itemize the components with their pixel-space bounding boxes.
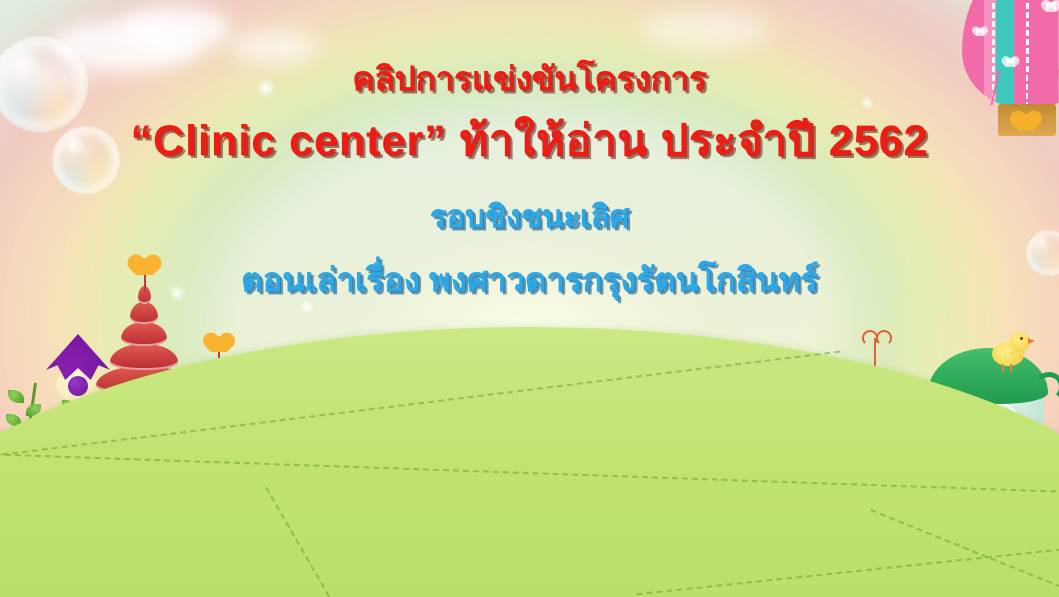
bird-beak-icon — [1028, 338, 1035, 344]
title-line-2: “Clinic center” ท้าให้อ่าน ประจำปี 2562 — [0, 114, 1059, 169]
title-text-block: คลิปการแข่งขันโครงการ “Clinic center” ท้… — [0, 58, 1059, 301]
bird-head — [1010, 332, 1030, 352]
roof-segment-3 — [110, 344, 178, 370]
pagoda-curl-right-icon — [876, 330, 892, 346]
bird-eye — [1020, 337, 1023, 340]
title-line-3: รอบชิงชนะเลิศ — [0, 197, 1059, 237]
roof-segment-2 — [121, 322, 167, 346]
hill-dash-3 — [265, 487, 634, 597]
tower-short-heart-icon — [211, 336, 227, 352]
hill-dash-5 — [636, 533, 1059, 595]
roof-segment-1 — [130, 302, 158, 324]
title-line-1: คลิปการแข่งขันโครงการ — [0, 58, 1059, 100]
sparkle-5 — [300, 300, 314, 314]
bird-leg-2 — [1010, 364, 1012, 372]
title-line-4: ตอนเล่าเรื่อง พงศาวดารกรุงรัตนโกสินทร์ — [0, 259, 1059, 301]
bird-leg-1 — [1002, 364, 1004, 372]
balloon-heart-5 — [976, 28, 984, 36]
cloud-2 — [120, 6, 230, 52]
cloud-5 — [640, 10, 770, 50]
roof-curl-right-icon — [1034, 372, 1059, 402]
slide-canvas: คลิปการแข่งขันโครงการ “Clinic center” ท้… — [0, 0, 1059, 597]
balloon-heart-2 — [1046, 2, 1056, 12]
hill-dash-2 — [0, 451, 1059, 497]
mushroom-center-dot — [68, 376, 88, 396]
